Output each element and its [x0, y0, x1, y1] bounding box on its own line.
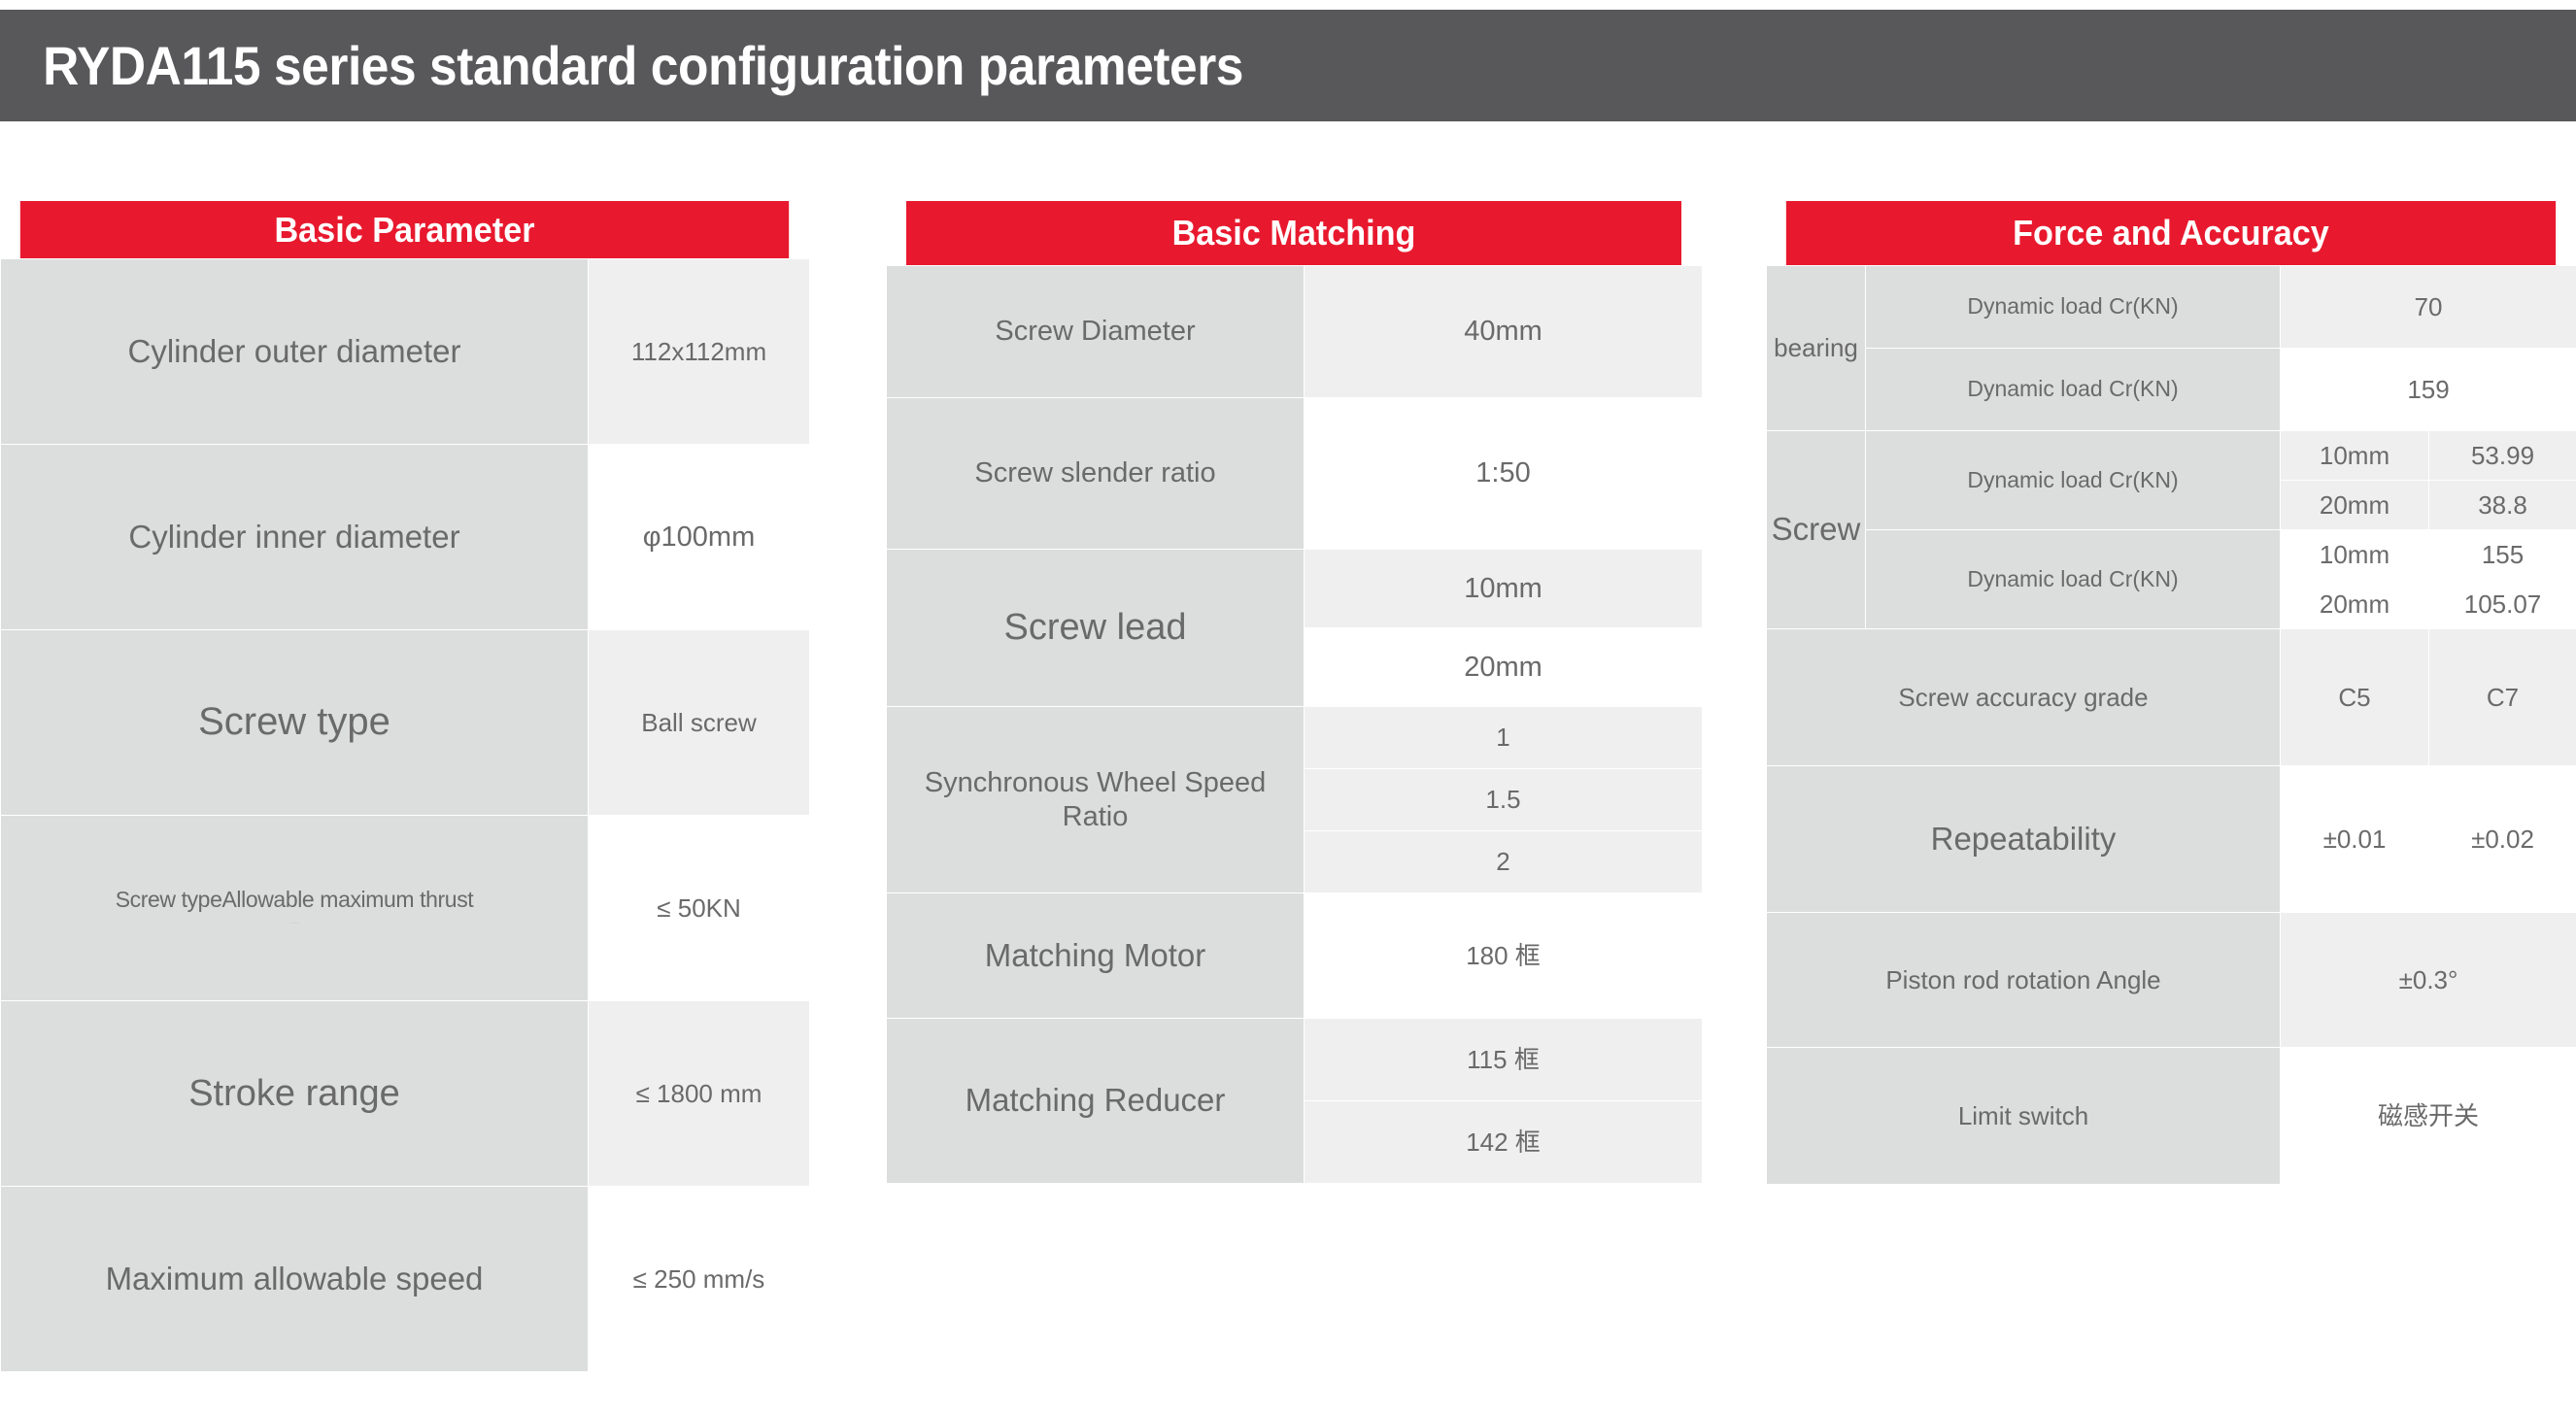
table-row: Matching Motor 180 框 [887, 893, 1703, 1019]
row-label: Dynamic load Cr(KN) [1866, 266, 2281, 349]
row-lead: 20mm [2281, 580, 2429, 629]
table-row: Screw accuracy grade C5 C7 [1767, 629, 2576, 766]
row-label: Screw accuracy grade [1767, 629, 2281, 766]
row-value: 1:50 [1305, 398, 1703, 550]
row-value: Ball screw [589, 630, 810, 816]
table-row: Limit switch 磁感开关 [1767, 1048, 2576, 1185]
table-row: Dynamic load Cr(KN) 10mm 155 [1767, 530, 2576, 580]
row-label: Screw lead [887, 550, 1305, 707]
row-value: 112x112mm [589, 259, 810, 445]
row-value: ≤ 1800 mm [589, 1001, 810, 1187]
table-row: Synchronous Wheel Speed Ratio 1 [887, 707, 1703, 769]
row-value: 40mm [1305, 266, 1703, 398]
row-value: ≤ 50KN [589, 816, 810, 1001]
panel-title-force-and-accuracy: Force and Accuracy [1786, 201, 2556, 265]
row-value-right: C7 [2429, 629, 2576, 766]
row-value: ±0.3° [2281, 913, 2576, 1048]
row-label-text: Screw typeAllowable maximum thrust [116, 887, 474, 912]
row-value: 159 [2281, 349, 2576, 431]
panel-basic-matching: Basic Matching Screw Diameter 40mm Screw… [886, 201, 1702, 1184]
row-value: 155 [2429, 530, 2576, 580]
table-row: Matching Reducer 115 框 [887, 1019, 1703, 1101]
row-label: Repeatability [1767, 766, 2281, 913]
panel-force-and-accuracy: Force and Accuracy bearing Dynamic load … [1766, 201, 2576, 1185]
row-value: ≤ 250 mm/s [589, 1187, 810, 1372]
row-label: Screw typeAllowable maximum thrust … [1, 816, 589, 1001]
row-value: 1.5 [1305, 769, 1703, 831]
row-value: 磁感开关 [2281, 1048, 2576, 1185]
row-label: Cylinder inner diameter [1, 445, 589, 630]
row-value: 180 框 [1305, 893, 1703, 1019]
page-title: RYDA115 series standard configuration pa… [0, 34, 1243, 97]
row-value: 115 框 [1305, 1019, 1703, 1101]
table-basic-matching: Screw Diameter 40mm Screw slender ratio … [886, 265, 1703, 1184]
table-row: Screw type Ball screw [1, 630, 810, 816]
row-label: Screw type [1, 630, 589, 816]
row-label: Stroke range [1, 1001, 589, 1187]
page-header-bar: RYDA115 series standard configuration pa… [0, 10, 2576, 121]
row-label: Dynamic load Cr(KN) [1866, 349, 2281, 431]
row-label: Matching Reducer [887, 1019, 1305, 1184]
row-label: Screw Diameter [887, 266, 1305, 398]
row-value: φ100mm [589, 445, 810, 630]
row-lead: 10mm [2281, 530, 2429, 580]
table-row: Stroke range ≤ 1800 mm [1, 1001, 810, 1187]
panel-title-basic-parameter: Basic Parameter [20, 201, 789, 258]
table-row: Screw slender ratio 1:50 [887, 398, 1703, 550]
row-label: Cylinder outer diameter [1, 259, 589, 445]
table-basic-parameter: Cylinder outer diameter 112x112mm Cylind… [0, 258, 810, 1372]
panel-basic-parameter: Basic Parameter Cylinder outer diameter … [0, 201, 809, 1372]
row-value: 1 [1305, 707, 1703, 769]
row-label: Limit switch [1767, 1048, 2281, 1185]
table-row: Cylinder inner diameter φ100mm [1, 445, 810, 630]
row-value-left: ±0.01 [2281, 766, 2429, 913]
table-force-and-accuracy: bearing Dynamic load Cr(KN) 70 Dynamic l… [1766, 265, 2576, 1185]
table-row: Cylinder outer diameter 112x112mm [1, 259, 810, 445]
table-row: Screw lead 10mm [887, 550, 1703, 628]
row-value: 105.07 [2429, 580, 2576, 629]
row-value: 70 [2281, 266, 2576, 349]
row-label: Maximum allowable speed [1, 1187, 589, 1372]
row-value: 38.8 [2429, 481, 2576, 530]
group-label-bearing: bearing [1767, 266, 1866, 431]
table-row: Screw Dynamic load Cr(KN) 10mm 53.99 [1767, 431, 2576, 481]
table-row: Dynamic load Cr(KN) 159 [1767, 349, 2576, 431]
row-label-note: … [5, 913, 584, 930]
row-value: 53.99 [2429, 431, 2576, 481]
panel-title-basic-matching: Basic Matching [906, 201, 1681, 265]
row-label: Screw slender ratio [887, 398, 1305, 550]
table-row: Repeatability ±0.01 ±0.02 [1767, 766, 2576, 913]
row-value-left: C5 [2281, 629, 2429, 766]
row-value: 2 [1305, 831, 1703, 893]
row-label: Synchronous Wheel Speed Ratio [887, 707, 1305, 893]
table-row: bearing Dynamic load Cr(KN) 70 [1767, 266, 2576, 349]
row-value: 10mm [1305, 550, 1703, 628]
row-lead: 10mm [2281, 431, 2429, 481]
row-value-right: ±0.02 [2429, 766, 2576, 913]
row-label: Matching Motor [887, 893, 1305, 1019]
group-label-screw: Screw [1767, 431, 1866, 629]
row-label: Piston rod rotation Angle [1767, 913, 2281, 1048]
row-value: 142 框 [1305, 1101, 1703, 1184]
row-label: Dynamic load Cr(KN) [1866, 431, 2281, 530]
row-label: Dynamic load Cr(KN) [1866, 530, 2281, 629]
table-row: Piston rod rotation Angle ±0.3° [1767, 913, 2576, 1048]
row-value: 20mm [1305, 628, 1703, 707]
table-row: Screw Diameter 40mm [887, 266, 1703, 398]
row-lead: 20mm [2281, 481, 2429, 530]
table-row: Maximum allowable speed ≤ 250 mm/s [1, 1187, 810, 1372]
table-row: Screw typeAllowable maximum thrust … ≤ 5… [1, 816, 810, 1001]
